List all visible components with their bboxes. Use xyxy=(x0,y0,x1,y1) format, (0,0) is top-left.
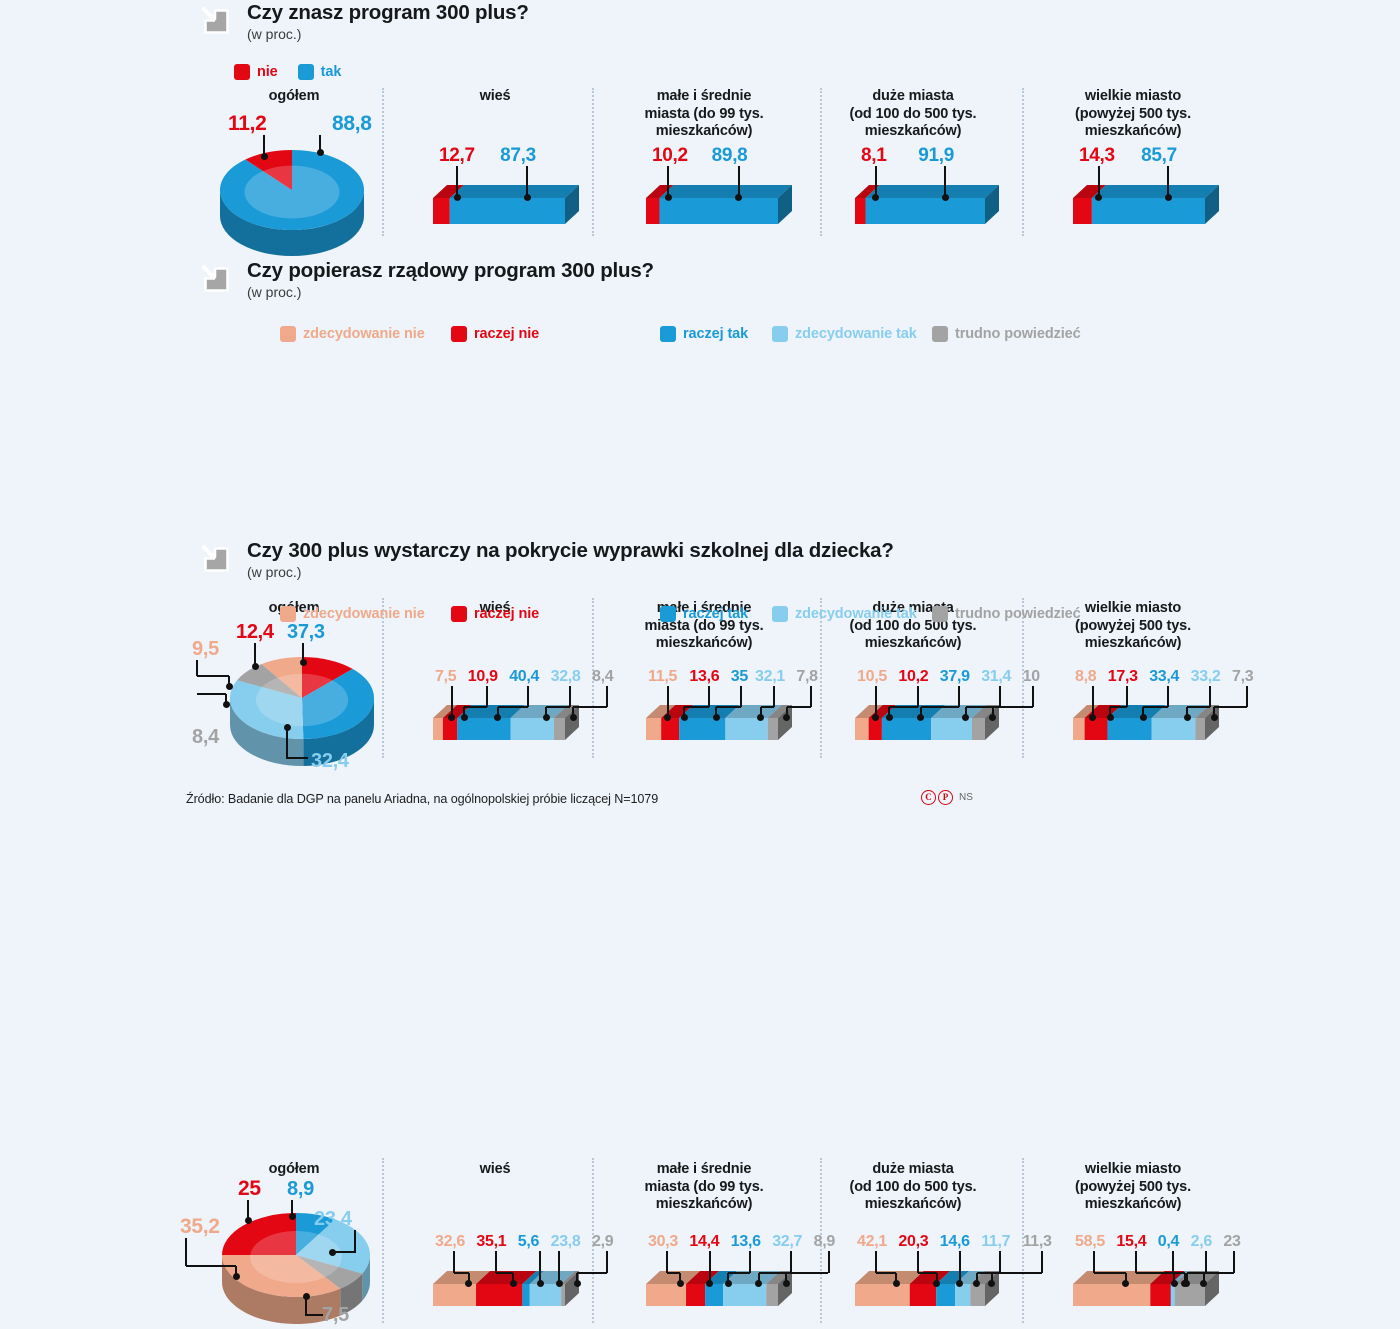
bar-małe xyxy=(646,1271,792,1306)
bar-value-label: 91,9 xyxy=(918,145,954,167)
bar-wielkie xyxy=(1073,185,1219,224)
bar-value-label: 12,7 xyxy=(439,145,475,167)
bar-segment-front xyxy=(686,1284,705,1306)
bar-segment-front xyxy=(561,1284,565,1306)
leader-line xyxy=(456,166,458,197)
leader-line xyxy=(1094,1272,1125,1274)
legend-swatch-icon xyxy=(660,326,676,342)
bar-segment-front xyxy=(723,1284,766,1306)
bar-value-label: 0,4 xyxy=(1158,1233,1179,1251)
leader-line xyxy=(185,1238,187,1266)
bar-segment-front xyxy=(936,1284,955,1306)
bar-segment-front xyxy=(659,198,778,224)
bar-segment-front xyxy=(866,198,985,224)
legend-item-tak[interactable]: tak xyxy=(298,64,342,80)
bar-value-label: 7,5 xyxy=(322,1304,349,1327)
legend-label: zdecydowanie tak xyxy=(795,326,917,342)
leader-line xyxy=(332,1251,356,1253)
column-title-2: małe i średnie miasta (do 99 tys. mieszk… xyxy=(600,1161,808,1214)
leader-line xyxy=(539,1251,541,1283)
section-header-text: Czy znasz program 300 plus?(w proc.) xyxy=(247,0,529,42)
legend-swatch-icon xyxy=(280,606,296,622)
phonogram-icon: P xyxy=(938,790,953,805)
leader-line xyxy=(319,135,321,152)
bar-segment-front xyxy=(530,1284,561,1306)
leader-line xyxy=(577,1272,607,1274)
bar-duże xyxy=(855,185,999,224)
bar-segment-top xyxy=(866,185,999,198)
bar-value-label: 88,8 xyxy=(332,112,372,136)
leader-line xyxy=(666,1251,668,1273)
legend-label: raczej nie xyxy=(474,326,539,342)
legend-swatch-icon xyxy=(451,326,467,342)
bar-value-label: 8,9 xyxy=(814,1233,835,1251)
bar-value-label: 15,4 xyxy=(1116,1233,1146,1251)
bar-segment-front xyxy=(450,198,565,224)
bar-segment-front xyxy=(1175,1284,1205,1306)
column-title-4: wielkie miasto (powyżej 500 tys. mieszka… xyxy=(1018,1161,1248,1214)
source-note: Źródło: Badanie dla DGP na panelu Ariadn… xyxy=(186,792,658,806)
section-subtitle: (w proc.) xyxy=(247,565,894,580)
legend-label: tak xyxy=(321,64,342,80)
leader-line xyxy=(1093,1251,1095,1273)
legend-label: zdecydowanie nie xyxy=(303,606,425,622)
leader-line xyxy=(1098,166,1100,197)
section-title: Czy popierasz rządowy program 300 plus? xyxy=(247,260,654,282)
leader-line xyxy=(1233,1251,1235,1273)
bar-value-label: 11,7 xyxy=(981,1233,1010,1251)
leader-line xyxy=(576,1273,578,1283)
column-divider xyxy=(1022,88,1024,236)
section-header: Czy 300 plus wystarczy na pokrycie wypra… xyxy=(196,538,894,580)
bar-value-label: 42,1 xyxy=(857,1233,887,1251)
bar-segment-front xyxy=(910,1284,936,1306)
arrow-down-right-icon xyxy=(196,539,235,578)
section-header-text: Czy 300 plus wystarczy na pokrycie wypra… xyxy=(247,538,894,580)
leader-line xyxy=(828,1251,830,1273)
leader-line xyxy=(667,1272,680,1274)
leader-line xyxy=(895,1273,897,1283)
legend-label: zdecydowanie tak xyxy=(795,606,917,622)
bar-segment-front xyxy=(433,198,450,224)
leader-line xyxy=(1203,1273,1205,1283)
leader-line xyxy=(305,1296,307,1316)
bar-segment-top xyxy=(1092,185,1219,198)
legend-label: raczej nie xyxy=(474,606,539,622)
bar-segment-front xyxy=(1073,198,1092,224)
bar-segment-top xyxy=(659,185,792,198)
bar-value-label: 32,7 xyxy=(772,1233,802,1251)
column-divider xyxy=(592,88,594,236)
bar-segment-front xyxy=(433,1284,476,1306)
leader-line xyxy=(992,1272,1042,1274)
column-title-0: ogółem xyxy=(196,1161,392,1179)
leader-line xyxy=(758,1273,760,1283)
bar-segment-front xyxy=(970,1284,985,1306)
legend-swatch-icon xyxy=(234,64,250,80)
leader-line xyxy=(247,1200,249,1220)
leader-line xyxy=(263,135,265,156)
bar-segment-front xyxy=(766,1284,778,1306)
bar-segment-front xyxy=(1150,1284,1170,1306)
leader-line xyxy=(999,1251,1001,1273)
bar-segment-front xyxy=(855,198,866,224)
legend-item-zdecydowanie-nie[interactable]: zdecydowanie nie xyxy=(280,606,425,622)
legend-item-raczej-tak[interactable]: raczej tak xyxy=(660,326,748,342)
bar-segment-front xyxy=(705,1284,723,1306)
section-title: Czy znasz program 300 plus? xyxy=(247,2,529,24)
leader-line xyxy=(918,1272,937,1274)
leader-line xyxy=(667,166,669,197)
column-title-1: wieś xyxy=(390,1161,600,1179)
leader-line xyxy=(991,1273,993,1283)
bar-value-label: 2,9 xyxy=(592,1233,613,1251)
section-3: Czy 300 plus wystarczy na pokrycie wypra… xyxy=(0,538,1400,830)
legend-label: zdecydowanie nie xyxy=(303,326,425,342)
bar-wielkie xyxy=(1073,1271,1219,1306)
leader-line xyxy=(606,1251,608,1273)
legend-item-trudno-powiedzieć[interactable]: trudno powiedzieć xyxy=(932,606,1081,622)
bar-value-label: 85,7 xyxy=(1141,145,1177,167)
legend-swatch-icon xyxy=(298,64,314,80)
legend-item-trudno-powiedzieć[interactable]: trudno powiedzieć xyxy=(932,326,1081,342)
legend-item-raczej-nie[interactable]: raczej nie xyxy=(451,606,539,622)
leader-line xyxy=(875,1251,877,1273)
legend-label: trudno powiedzieć xyxy=(955,606,1081,622)
column-title-1: wieś xyxy=(390,88,600,106)
leader-line xyxy=(785,1273,787,1283)
leader-line xyxy=(526,166,528,197)
leader-line xyxy=(936,1273,938,1283)
leader-line xyxy=(749,1251,751,1273)
leader-line xyxy=(1205,1251,1207,1273)
leader-line xyxy=(1135,1251,1137,1273)
bar-segment-front xyxy=(1073,1284,1150,1306)
leader-line xyxy=(186,1265,236,1267)
pie-inner-well xyxy=(250,1231,342,1283)
bar-value-label: 14,3 xyxy=(1079,145,1115,167)
leader-line xyxy=(728,1272,750,1274)
leader-line xyxy=(468,1273,470,1283)
section-title: Czy 300 plus wystarczy na pokrycie wypra… xyxy=(247,540,894,562)
copyright-icon: C xyxy=(921,790,936,805)
leader-line xyxy=(1172,1251,1174,1273)
bar-value-label: 13,6 xyxy=(731,1233,761,1251)
infographic-canvas: Czy znasz program 300 plus?(w proc.)niet… xyxy=(0,0,1400,830)
bar-value-label: 32,6 xyxy=(435,1233,465,1251)
bar-value-label: 8,1 xyxy=(861,145,887,167)
bar-value-label: 23,8 xyxy=(551,1233,581,1251)
leader-line xyxy=(738,166,740,197)
column-divider xyxy=(820,88,822,236)
bar-value-label: 10,2 xyxy=(652,145,688,167)
legend-label: nie xyxy=(257,64,278,80)
leader-line xyxy=(512,1273,514,1283)
legend-swatch-icon xyxy=(772,606,788,622)
leader-line xyxy=(944,166,946,197)
bar-value-label: 14,6 xyxy=(940,1233,970,1251)
section-header-text: Czy popierasz rządowy program 300 plus?(… xyxy=(247,258,654,300)
column-divider xyxy=(382,88,384,236)
leader-line xyxy=(917,1251,919,1273)
bar-segment-front xyxy=(1092,198,1205,224)
bar-value-label: 14,4 xyxy=(689,1233,719,1251)
bar-segment-front xyxy=(476,1284,522,1306)
legend-swatch-icon xyxy=(772,326,788,342)
legend-swatch-icon xyxy=(932,606,948,622)
leader-line xyxy=(305,1314,323,1316)
legend-item-zdecydowanie-tak[interactable]: zdecydowanie tak xyxy=(772,606,917,622)
leader-line xyxy=(1204,1272,1234,1274)
legend-label: raczej tak xyxy=(683,606,748,622)
bar-value-label: 35,1 xyxy=(476,1233,506,1251)
section-subtitle: (w proc.) xyxy=(247,285,654,300)
leader-line xyxy=(454,1272,468,1274)
column-title-0: ogółem xyxy=(196,88,392,106)
column-title-2: małe i średnie miasta (do 99 tys. mieszk… xyxy=(600,88,808,141)
leader-line xyxy=(1125,1273,1127,1283)
bar-value-label: 8,9 xyxy=(287,1178,314,1201)
legend-item-raczej-tak[interactable]: raczej tak xyxy=(660,606,748,622)
leader-line xyxy=(876,1272,896,1274)
legend-label: raczej tak xyxy=(683,326,748,342)
leader-line xyxy=(495,1251,497,1273)
leader-line xyxy=(1173,1272,1185,1274)
arrow-down-right-icon xyxy=(196,259,235,298)
legend-swatch-icon xyxy=(280,326,296,342)
column-title-3: duże miasta (od 100 do 500 tys. mieszkań… xyxy=(808,88,1018,141)
leader-line xyxy=(1041,1251,1043,1273)
pie-inner-well xyxy=(244,166,339,219)
leader-line xyxy=(1136,1272,1175,1274)
legend-item-nie[interactable]: nie xyxy=(234,64,278,80)
legend-label: trudno powiedzieć xyxy=(955,326,1081,342)
bar-value-label: 11,3 xyxy=(1023,1233,1052,1251)
legend-item-zdecydowanie-tak[interactable]: zdecydowanie tak xyxy=(772,326,917,342)
leader-line xyxy=(959,1251,961,1283)
bar-value-label: 11,2 xyxy=(228,112,267,136)
leader-line xyxy=(1186,1273,1188,1283)
section-1: Czy znasz program 300 plus?(w proc.)niet… xyxy=(0,0,1400,258)
bar-value-label: 20,3 xyxy=(898,1233,928,1251)
bar-segment-top xyxy=(450,185,579,198)
bar-value-label: 58,5 xyxy=(1075,1233,1105,1251)
bar-segment-front xyxy=(855,1284,910,1306)
leader-line xyxy=(790,1251,792,1273)
section-2: Czy popierasz rządowy program 300 plus?(… xyxy=(0,258,1400,516)
arrow-down-right-icon xyxy=(196,1,235,40)
section-header: Czy znasz program 300 plus?(w proc.) xyxy=(196,0,529,42)
legend-item-raczej-nie[interactable]: raczej nie xyxy=(451,326,539,342)
leader-line xyxy=(354,1230,356,1253)
bar-value-label: 23,4 xyxy=(314,1208,352,1231)
leader-line xyxy=(453,1251,455,1273)
bar-segment-front xyxy=(646,1284,686,1306)
bar-segment-front xyxy=(646,198,659,224)
column-title-3: duże miasta (od 100 do 500 tys. mieszkań… xyxy=(808,1161,1018,1214)
column-title-4: wielkie miasto (powyżej 500 tys. mieszka… xyxy=(1018,88,1248,141)
bar-segment-front xyxy=(1171,1284,1172,1306)
bar-value-label: 5,6 xyxy=(518,1233,539,1251)
bar-wieś xyxy=(433,185,579,224)
leader-line xyxy=(496,1272,514,1274)
bar-value-label: 25 xyxy=(238,1177,261,1201)
bar-value-label: 23 xyxy=(1223,1233,1240,1251)
bar-wieś xyxy=(433,1271,579,1306)
leader-line xyxy=(1167,166,1169,197)
leader-line xyxy=(727,1273,729,1283)
pie-chart-3d xyxy=(218,147,366,259)
leader-line xyxy=(786,1272,828,1274)
legend: nietak xyxy=(234,64,341,80)
bar-segment-front xyxy=(955,1284,970,1306)
credit-initials: NS xyxy=(959,792,973,803)
bar-value-label: 89,8 xyxy=(712,145,748,167)
section-header: Czy popierasz rządowy program 300 plus?(… xyxy=(196,258,654,300)
leader-line xyxy=(875,166,877,197)
bar-value-label: 2,6 xyxy=(1191,1233,1212,1251)
bar-value-label: 30,3 xyxy=(648,1233,678,1251)
bar-value-label: 35,2 xyxy=(180,1215,220,1239)
section-subtitle: (w proc.) xyxy=(247,27,529,42)
bar-value-label: 87,3 xyxy=(500,145,536,167)
column-divider xyxy=(382,1158,384,1323)
legend-swatch-icon xyxy=(932,326,948,342)
legend-item-zdecydowanie-nie[interactable]: zdecydowanie nie xyxy=(280,326,425,342)
bar-segment-front xyxy=(1171,1284,1174,1306)
leader-line xyxy=(235,1266,237,1276)
leader-line xyxy=(1173,1273,1175,1283)
legend-swatch-icon xyxy=(660,606,676,622)
bar-segment-front xyxy=(522,1284,529,1306)
leader-line xyxy=(976,1273,978,1283)
copyright-credit: CPNS xyxy=(921,790,973,805)
leader-line xyxy=(291,1200,293,1216)
leader-line xyxy=(709,1251,711,1283)
leader-line xyxy=(558,1251,560,1283)
leader-line xyxy=(679,1273,681,1283)
legend-swatch-icon xyxy=(451,606,467,622)
